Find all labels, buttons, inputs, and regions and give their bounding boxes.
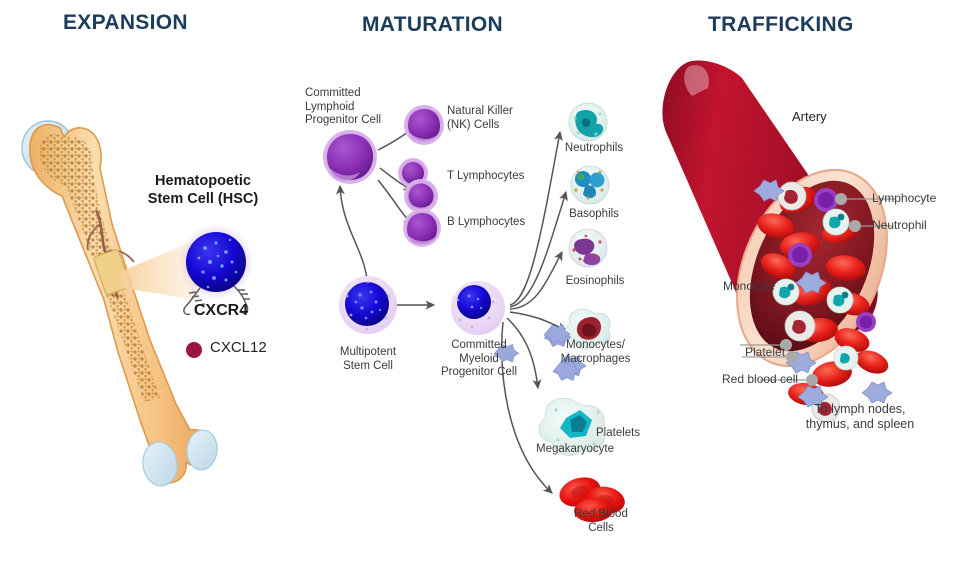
label-destination: To lymph nodes, thymus, and spleen — [770, 402, 950, 432]
label-neutrophil: Neutrophil — [872, 219, 927, 233]
diagram-canvas: EXPANSION MATURATION TRAFFICKING — [0, 0, 968, 579]
trafficking-content: Artery Lymphocyte Neutrophil Monocyte Pl… — [0, 0, 968, 579]
label-lymphocyte: Lymphocyte — [872, 192, 936, 206]
label-platelet: Platelet — [745, 346, 785, 360]
label-monocyte: Monocyte — [723, 280, 775, 294]
label-artery: Artery — [792, 110, 827, 124]
label-red-blood-cell: Red blood cell — [722, 373, 798, 387]
